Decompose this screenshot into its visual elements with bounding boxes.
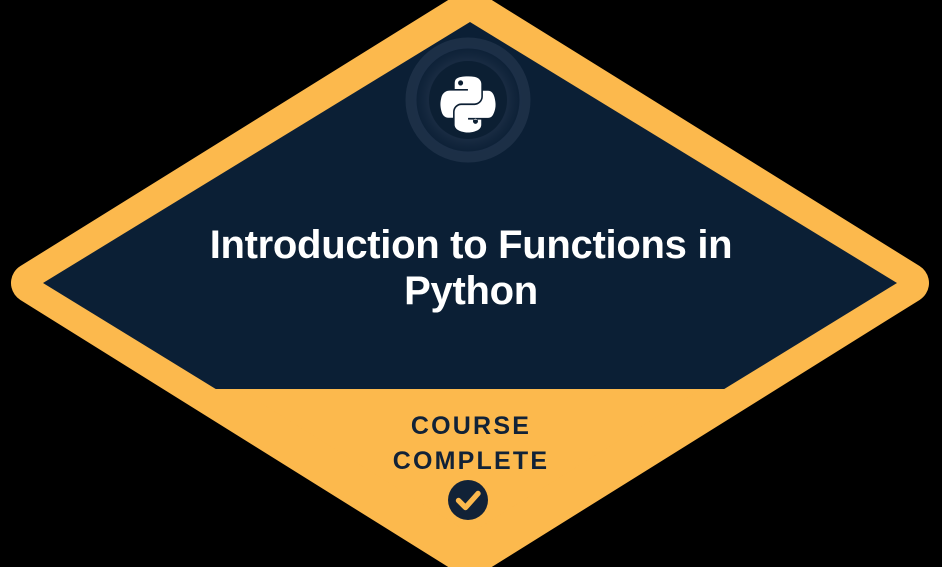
check-circle-icon bbox=[448, 480, 488, 520]
badge-graphic bbox=[0, 0, 942, 567]
course-completion-badge: Introduction to Functions in Python COUR… bbox=[0, 0, 942, 567]
